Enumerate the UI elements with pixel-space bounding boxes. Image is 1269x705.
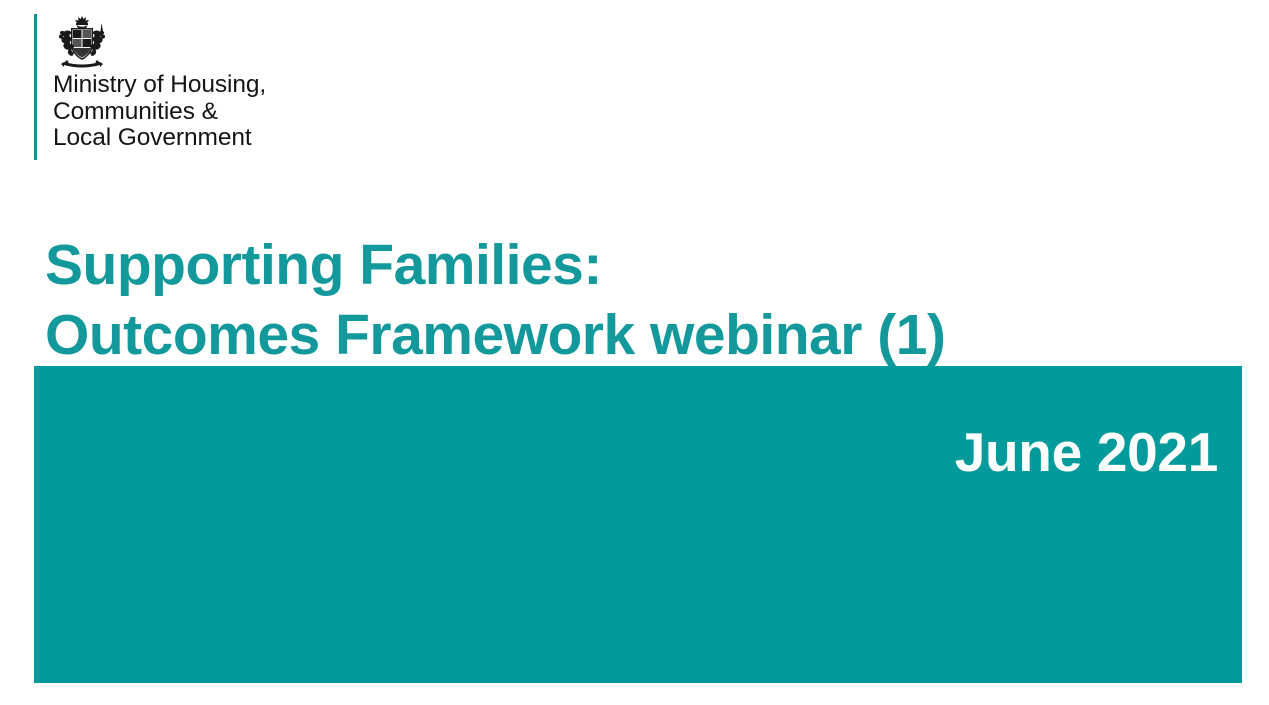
slide-date: June 2021	[34, 422, 1218, 482]
royal-coat-of-arms-icon	[53, 14, 111, 70]
mhclg-logo: Ministry of Housing, Communities & Local…	[34, 14, 266, 160]
slide-title-line-2: Outcomes Framework webinar (1)	[45, 300, 945, 370]
slide-title: Supporting Families: Outcomes Framework …	[45, 230, 945, 370]
logo-text-line-3: Local Government	[53, 125, 266, 152]
title-slide: Ministry of Housing, Communities & Local…	[0, 0, 1269, 705]
logo-text-line-1: Ministry of Housing,	[53, 72, 266, 99]
slide-title-line-1: Supporting Families:	[45, 230, 945, 300]
teal-banner: June 2021	[34, 366, 1242, 683]
logo-body: Ministry of Housing, Communities & Local…	[37, 14, 266, 160]
logo-text-line-2: Communities &	[53, 99, 266, 126]
